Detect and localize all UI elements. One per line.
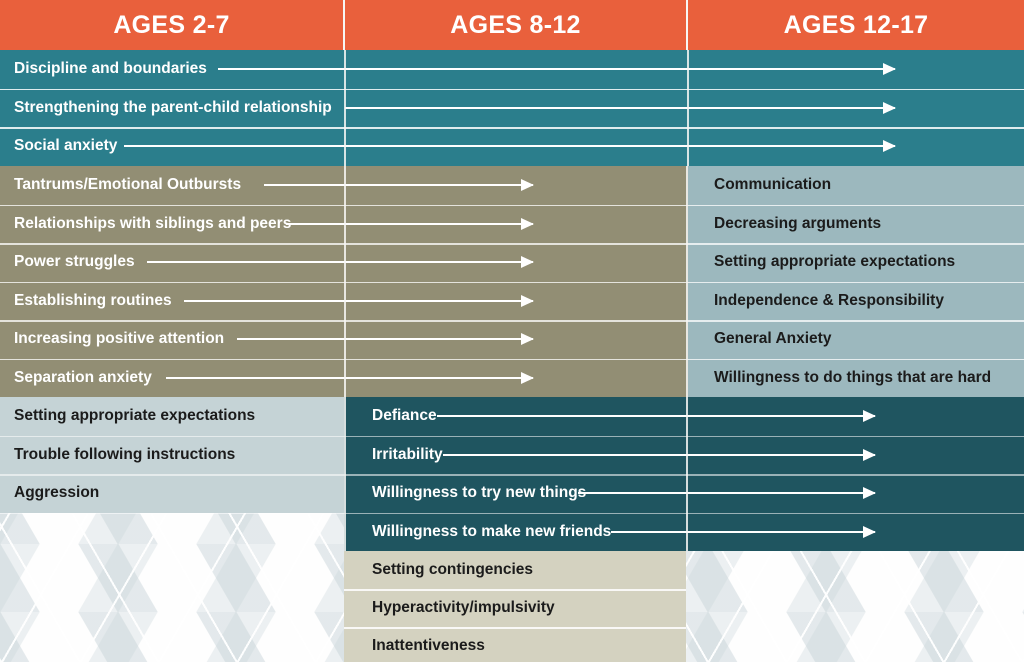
row-label: Relationships with siblings and peers	[0, 215, 291, 233]
header-column-ages-2-7: AGES 2-7	[0, 0, 345, 50]
row-divider	[0, 513, 1024, 515]
row-label-col3: Decreasing arguments	[700, 215, 881, 233]
table-row: Willingness to make new friends	[0, 513, 1024, 552]
row-label: Establishing routines	[0, 292, 172, 310]
arrow-icon	[124, 145, 895, 147]
band-young-to-middle: Tantrums/Emotional Outbursts Communicati…	[0, 166, 1024, 397]
row-label-col2: Inattentiveness	[358, 637, 485, 655]
row-divider	[0, 205, 1024, 207]
row-divider	[0, 474, 1024, 476]
row-divider	[0, 282, 1024, 284]
table-row: Strengthening the parent-child relations…	[0, 89, 1024, 128]
table-row: Increasing positive attention General An…	[0, 320, 1024, 359]
arrow-icon	[437, 415, 875, 417]
row-divider	[0, 89, 1024, 91]
row-label-col2: Willingness to make new friends	[358, 523, 611, 541]
table-row: Setting contingencies	[0, 551, 1024, 590]
row-label: Power struggles	[0, 253, 135, 271]
arrow-icon	[443, 454, 875, 456]
arrow-icon	[166, 377, 533, 379]
row-label-col3: General Anxiety	[700, 330, 831, 348]
row-label-col2: Setting contingencies	[358, 561, 533, 579]
row-label: Strengthening the parent-child relations…	[0, 99, 332, 117]
header-column-ages-8-12: AGES 8-12	[345, 0, 688, 50]
arrow-icon	[237, 338, 533, 340]
row-divider	[344, 589, 686, 591]
row-label-col3: Willingness to do things that are hard	[700, 369, 991, 387]
table-row: Inattentiveness	[0, 627, 1024, 662]
row-divider	[0, 436, 1024, 438]
arrow-icon	[218, 68, 895, 70]
row-divider	[0, 320, 1024, 322]
row-label: Trouble following instructions	[0, 446, 235, 464]
table-row: Discipline and boundaries	[0, 50, 1024, 89]
arrow-icon	[184, 300, 533, 302]
arrow-icon	[578, 492, 875, 494]
arrow-icon	[264, 184, 533, 186]
row-label-col2: Hyperactivity/impulsivity	[358, 599, 555, 617]
band-teen: Setting appropriate expectations Defianc…	[0, 397, 1024, 551]
table-row: Setting appropriate expectations Defianc…	[0, 397, 1024, 436]
table-row: Hyperactivity/impulsivity	[0, 589, 1024, 628]
row-divider	[0, 127, 1024, 129]
arrow-icon	[147, 261, 533, 263]
row-label-col3: Independence & Responsibility	[700, 292, 944, 310]
row-label: Aggression	[0, 484, 99, 502]
band-all-ages: Discipline and boundaries Strengthening …	[0, 50, 1024, 166]
row-label: Setting appropriate expectations	[0, 407, 255, 425]
age-topics-infographic: AGES 2-7 AGES 8-12 AGES 12-17 Discipline…	[0, 0, 1024, 662]
table-row: Tantrums/Emotional Outbursts Communicati…	[0, 166, 1024, 205]
row-divider	[0, 359, 1024, 361]
table-row: Aggression Willingness to try new things	[0, 474, 1024, 513]
row-label-col3: Communication	[700, 176, 831, 194]
band-middle-only: Setting contingencies Hyperactivity/impu…	[0, 551, 1024, 662]
row-label-col2: Defiance	[358, 407, 437, 425]
row-label: Tantrums/Emotional Outbursts	[0, 176, 241, 194]
header-column-ages-12-17: AGES 12-17	[688, 0, 1024, 50]
row-label-col2: Irritability	[358, 446, 443, 464]
table-row: Power struggles Setting appropriate expe…	[0, 243, 1024, 282]
row-label: Increasing positive attention	[0, 330, 224, 348]
row-label-col3: Setting appropriate expectations	[700, 253, 955, 271]
row-label: Discipline and boundaries	[0, 60, 207, 78]
row-divider	[344, 627, 686, 629]
arrow-icon	[611, 531, 875, 533]
row-divider	[0, 243, 1024, 245]
table-row: Social anxiety	[0, 127, 1024, 166]
table-row: Separation anxiety Willingness to do thi…	[0, 359, 1024, 398]
arrow-icon	[345, 107, 895, 109]
table-row: Trouble following instructions Irritabil…	[0, 436, 1024, 475]
arrow-icon	[286, 223, 533, 225]
row-label: Social anxiety	[0, 137, 117, 155]
table-row: Establishing routines Independence & Res…	[0, 282, 1024, 321]
header-row: AGES 2-7 AGES 8-12 AGES 12-17	[0, 0, 1024, 50]
row-label: Separation anxiety	[0, 369, 152, 387]
table-row: Relationships with siblings and peers De…	[0, 205, 1024, 244]
row-label-col2: Willingness to try new things	[358, 484, 586, 502]
